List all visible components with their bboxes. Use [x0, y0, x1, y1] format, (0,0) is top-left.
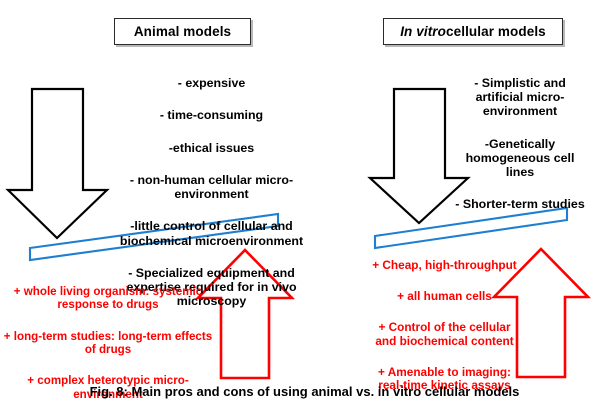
header-label-in-vitro-rest: cellular models: [446, 24, 546, 39]
con-item: - time-consuming: [104, 108, 319, 122]
black-down-arrow-left: [8, 89, 107, 238]
con-item: - Simplistic and artificial micro-enviro…: [450, 76, 590, 118]
con-item: - Shorter-term studies: [450, 197, 590, 211]
pro-item: + Control of the cellular and biochemica…: [372, 321, 517, 348]
header-label-in-vitro-italic: In vitro: [400, 24, 446, 39]
pro-item: + long-term studies: long-term effects o…: [2, 330, 214, 356]
header-box-animal-models[interactable]: Animal models: [114, 18, 251, 45]
header-label-animal-models: Animal models: [134, 24, 231, 39]
cons-list-in-vitro: - Simplistic and artificial micro-enviro…: [450, 62, 590, 230]
pro-item: + all human cells: [372, 290, 517, 303]
con-item: -Genetically homogeneous cell lines: [450, 137, 590, 179]
con-item: -ethical issues: [104, 141, 319, 155]
con-item: -little control of cellular and biochemi…: [104, 219, 319, 247]
figure-container: Animal models In vitro cellular models -…: [0, 0, 609, 403]
pro-item: + whole living organism: systemic respon…: [2, 285, 214, 311]
pro-item: + Cheap, high-throughput: [372, 259, 517, 272]
header-box-in-vitro-models[interactable]: In vitro cellular models: [383, 18, 563, 45]
figure-caption: Fig. 8: Main pros and cons of using anim…: [0, 384, 609, 399]
con-item: - non-human cellular micro-environment: [104, 173, 319, 201]
con-item: - expensive: [104, 76, 319, 90]
